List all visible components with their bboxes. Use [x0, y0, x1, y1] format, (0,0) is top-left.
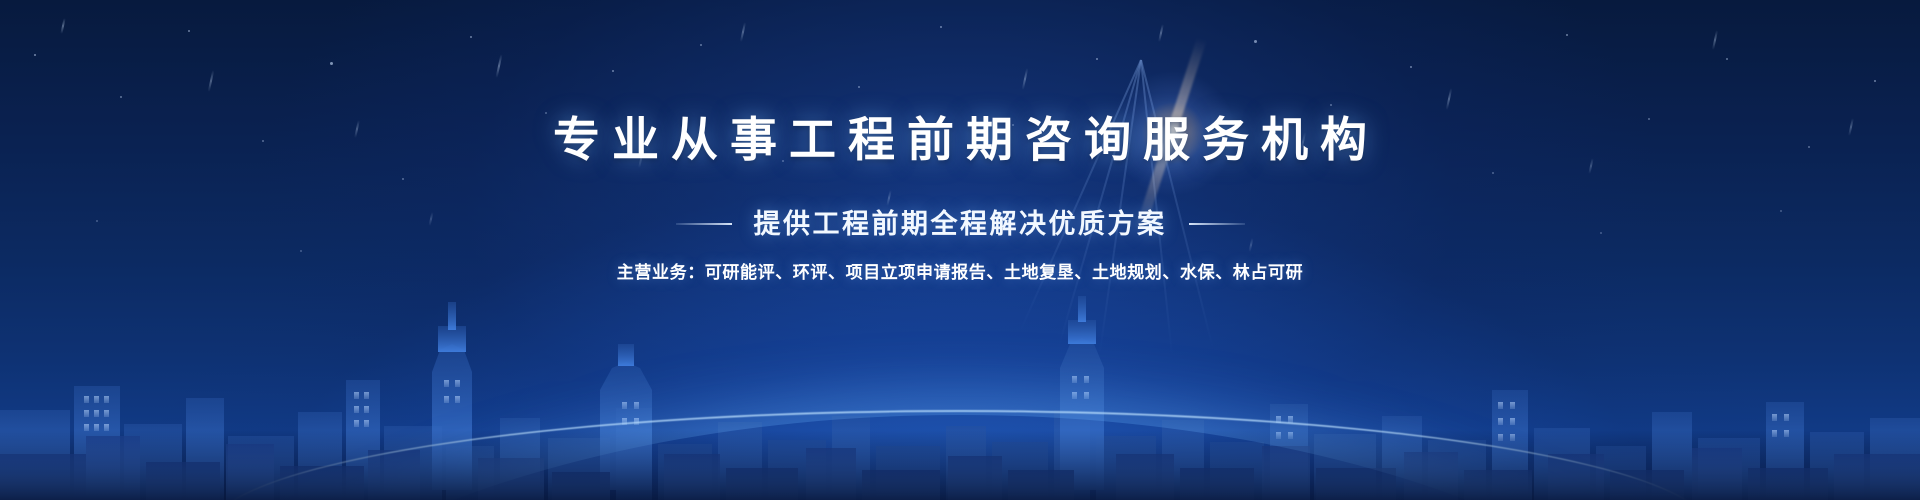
- business-scope-text: 主营业务：可研能评、环评、项目立项申请报告、土地复垦、土地规划、水保、林占可研: [0, 260, 1920, 286]
- banner-copy: 专业从事工程前期咨询服务机构 提供工程前期全程解决优质方案 主营业务：可研能评、…: [0, 0, 1920, 500]
- page-subtitle: 提供工程前期全程解决优质方案: [754, 206, 1167, 242]
- hero-banner: 专业从事工程前期咨询服务机构 提供工程前期全程解决优质方案 主营业务：可研能评、…: [0, 0, 1920, 500]
- divider-dash-left-icon: [676, 223, 732, 225]
- subtitle-row: 提供工程前期全程解决优质方案: [0, 206, 1920, 242]
- divider-dash-right-icon: [1189, 223, 1245, 225]
- page-title: 专业从事工程前期咨询服务机构: [0, 110, 1920, 170]
